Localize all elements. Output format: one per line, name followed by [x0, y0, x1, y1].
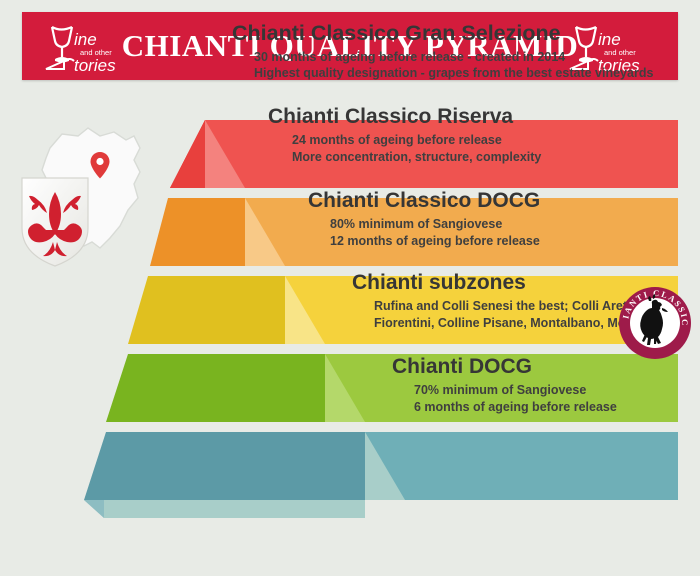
logo-text-main: ine: [74, 30, 97, 49]
level-5-line-1: 70% minimum of Sangiovese: [392, 382, 617, 399]
logo-text-second: tories: [74, 56, 116, 75]
chianti-classico-seal: CHIANTI CLASSICO DAL 1716: [618, 286, 692, 360]
level-2-line-2: More concentration, structure, complexit…: [268, 149, 541, 166]
level-3-line-2: 12 months of ageing before release: [308, 233, 540, 250]
quality-pyramid: [0, 100, 700, 570]
level-1-text: Chianti Classico Gran Selezione 30 month…: [232, 22, 653, 82]
infographic-canvas: ine and other tories CHIANTI QUALITY PYR…: [0, 0, 700, 576]
pyramid-level-5[interactable]: [84, 432, 678, 518]
level-2-title: Chianti Classico Riserva: [268, 106, 541, 128]
level-5-line-2: 6 months of ageing before release: [392, 399, 617, 416]
level-1-line-1: 30 months of ageing before release - cre…: [232, 49, 653, 66]
level-5-text: Chianti DOCG 70% minimum of Sangiovese 6…: [392, 356, 617, 415]
level-2-line-1: 24 months of ageing before release: [268, 132, 541, 149]
wine-and-other-stories-logo-left: ine and other tories: [40, 19, 136, 75]
level-3-title: Chianti Classico DOCG: [308, 190, 540, 212]
level-5-title: Chianti DOCG: [392, 356, 617, 378]
level-2-text: Chianti Classico Riserva 24 months of ag…: [268, 106, 541, 165]
level-3-line-1: 80% minimum of Sangiovese: [308, 216, 540, 233]
level-1-line-2: Highest quality designation - grapes fro…: [232, 65, 653, 82]
level-1-title: Chianti Classico Gran Selezione: [232, 22, 653, 45]
level-3-text: Chianti Classico DOCG 80% minimum of San…: [308, 190, 540, 249]
